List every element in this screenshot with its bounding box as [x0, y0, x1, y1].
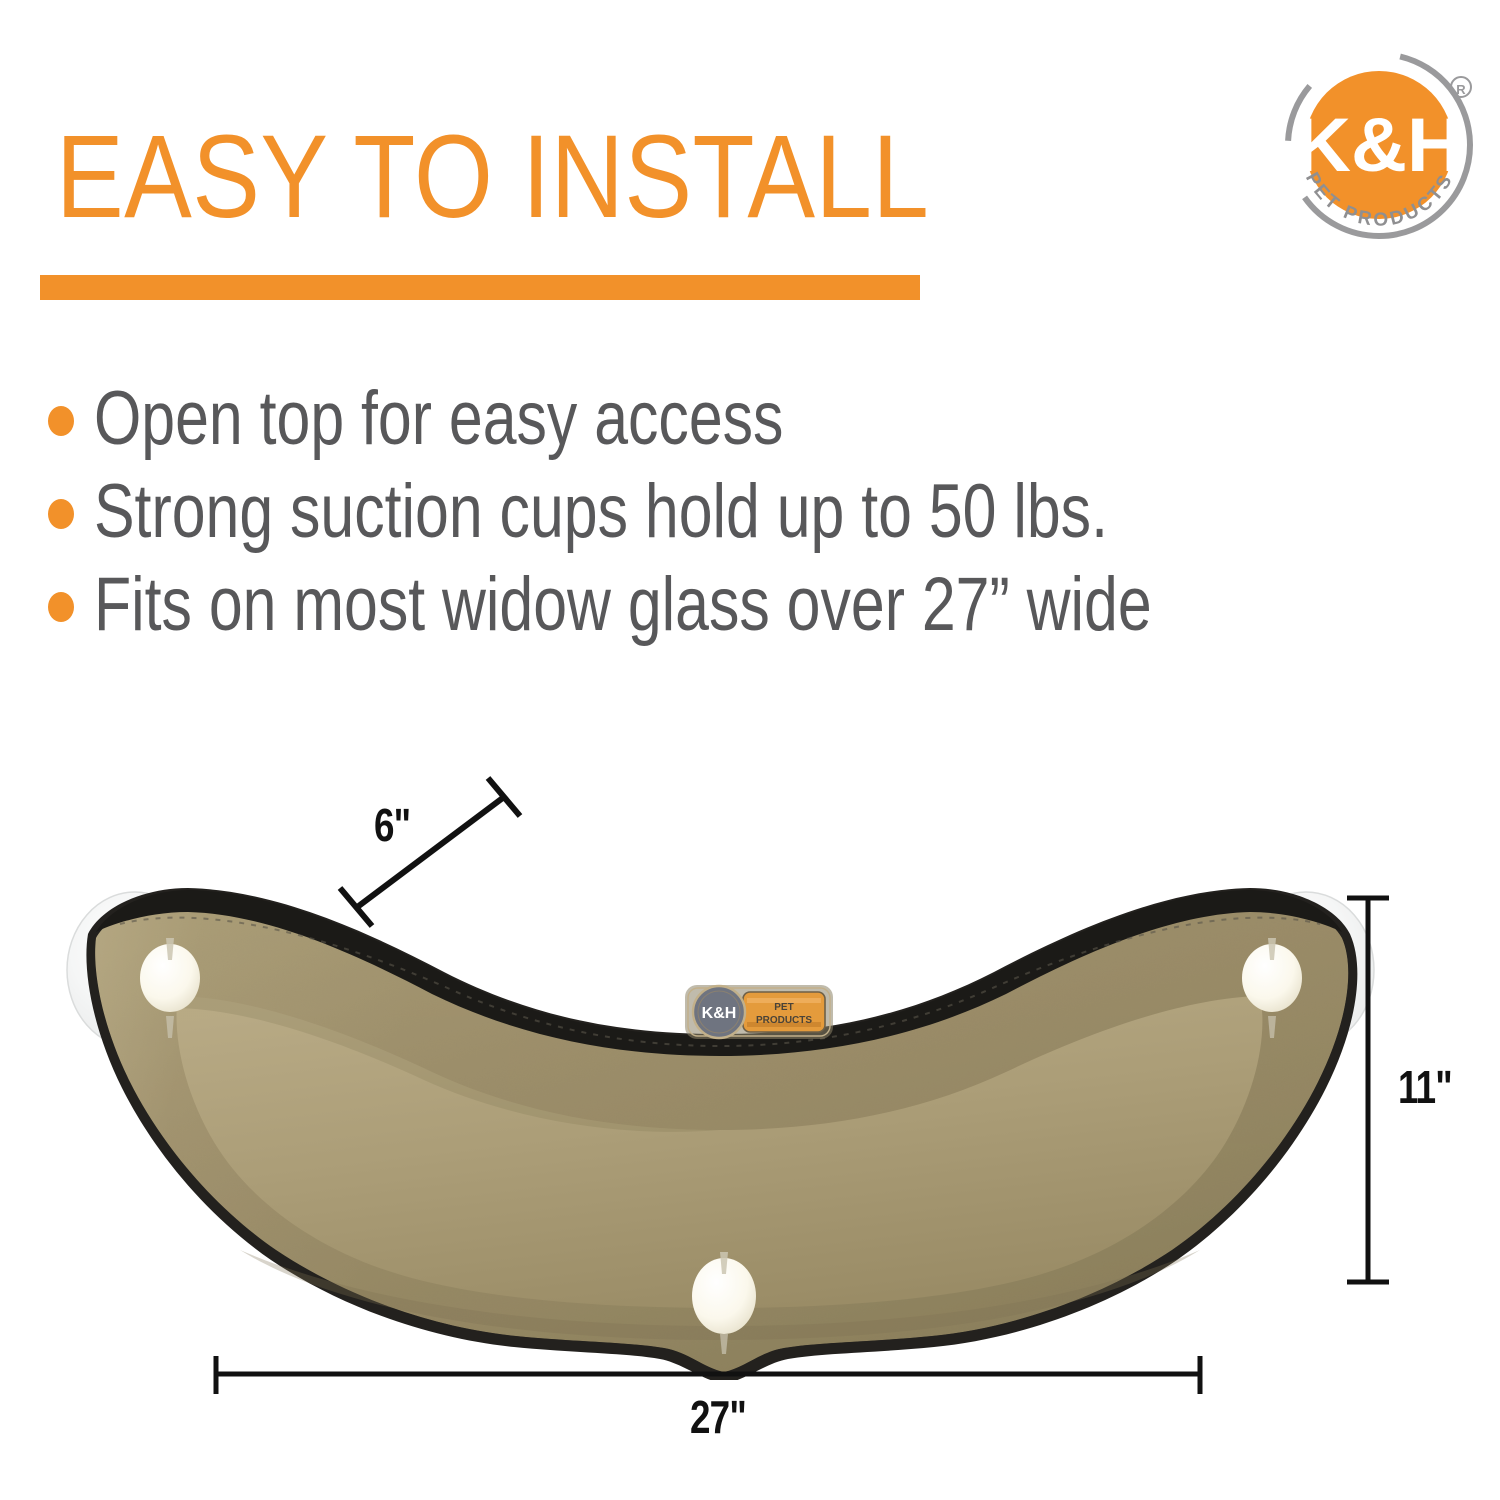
- infographic-page: EASY TO INSTALL K&H PET PRODUCTS R Op: [0, 0, 1500, 1500]
- dimension-label-height: 11": [1398, 1060, 1452, 1114]
- svg-text:R: R: [1456, 82, 1466, 97]
- k-and-h-pet-products-logo: K&H PET PRODUCTS R: [1277, 45, 1482, 250]
- bullet-dot-icon: [48, 499, 74, 529]
- product-logo-patch: PET PRODUCTS K&H: [683, 981, 835, 1043]
- patch-monogram: K&H: [702, 1005, 737, 1022]
- list-item-label: Fits on most widow glass over 27” wide: [94, 565, 1152, 645]
- title-underline-bar: [40, 275, 920, 300]
- page-title: EASY TO INSTALL: [56, 118, 929, 236]
- product-illustration: [60, 820, 1380, 1380]
- patch-line2: PRODUCTS: [756, 1015, 812, 1026]
- dimension-label-width: 27": [690, 1390, 746, 1444]
- dimension-label-depth: 6": [374, 798, 410, 852]
- list-item-label: Strong suction cups hold up to 50 lbs.: [94, 472, 1145, 552]
- list-item: Fits on most widow glass over 27” wide: [48, 558, 1408, 651]
- list-item: Open top for easy access: [48, 372, 1408, 465]
- feature-list: Open top for easy access Strong suction …: [48, 372, 1408, 651]
- bullet-dot-icon: [48, 592, 74, 622]
- list-item-label: Open top for easy access: [94, 379, 1145, 459]
- patch-line1: PET: [774, 1002, 793, 1013]
- bullet-dot-icon: [48, 406, 74, 436]
- list-item: Strong suction cups hold up to 50 lbs.: [48, 465, 1408, 558]
